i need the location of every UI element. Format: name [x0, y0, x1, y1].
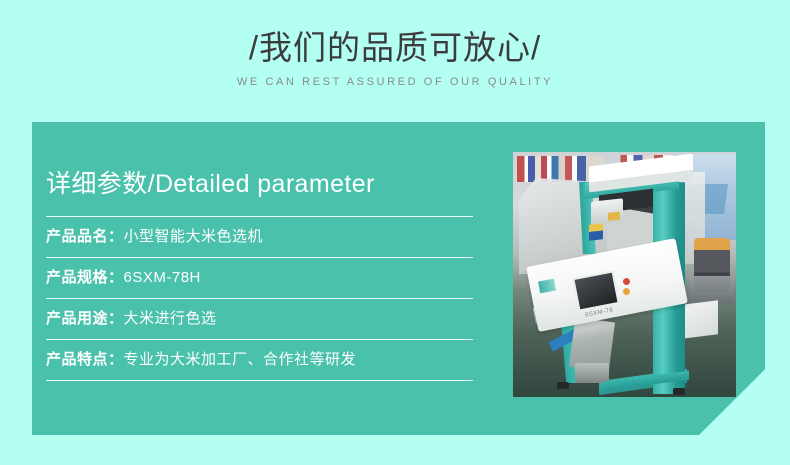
spec-value: 专业为大米加工厂、合作社等研发 — [124, 351, 357, 368]
machine-warning-sticker — [589, 223, 603, 240]
product-photo-image: 6SXM-78 — [513, 152, 736, 397]
spec-value: 6SXM-78H — [124, 269, 201, 286]
background-vacuum-base-decor — [690, 276, 734, 304]
spec-label: 产品用途： — [46, 310, 124, 327]
spec-label: 产品品名： — [46, 228, 124, 245]
spec-list: 产品品名：小型智能大米色选机 产品规格：6SXM-78H 产品用途：大米进行色选… — [46, 216, 473, 381]
machine-foot — [673, 388, 685, 395]
spec-row-product-model: 产品规格：6SXM-78H — [46, 258, 473, 298]
spec-row-product-usage: 产品用途：大米进行色选 — [46, 299, 473, 339]
spec-row-product-name: 产品品名：小型智能大米色选机 — [46, 217, 473, 257]
spec-label: 产品特点： — [46, 351, 124, 368]
spec-value: 小型智能大米色选机 — [124, 228, 264, 245]
spec-row-product-features: 产品特点：专业为大米加工厂、合作社等研发 — [46, 340, 473, 380]
machine-motor-unit — [591, 198, 623, 225]
machine-foot — [557, 382, 569, 389]
detailed-parameter-card: 详细参数/Detailed parameter 产品品名：小型智能大米色选机 产… — [32, 122, 765, 435]
product-photo: 6SXM-78 — [513, 152, 736, 397]
card-title: 详细参数/Detailed parameter — [46, 164, 375, 200]
spec-label: 产品规格： — [46, 269, 124, 286]
machine-outlet-collector — [575, 363, 609, 383]
page-subtitle: WE CAN REST ASSURED OF OUR QUALITY — [0, 74, 790, 90]
page-title: /我们的品质可放心/ — [0, 26, 790, 70]
page-header: /我们的品质可放心/ WE CAN REST ASSURED OF OUR QU… — [0, 0, 790, 120]
spec-divider — [46, 380, 473, 381]
spec-value: 大米进行色选 — [124, 310, 217, 327]
